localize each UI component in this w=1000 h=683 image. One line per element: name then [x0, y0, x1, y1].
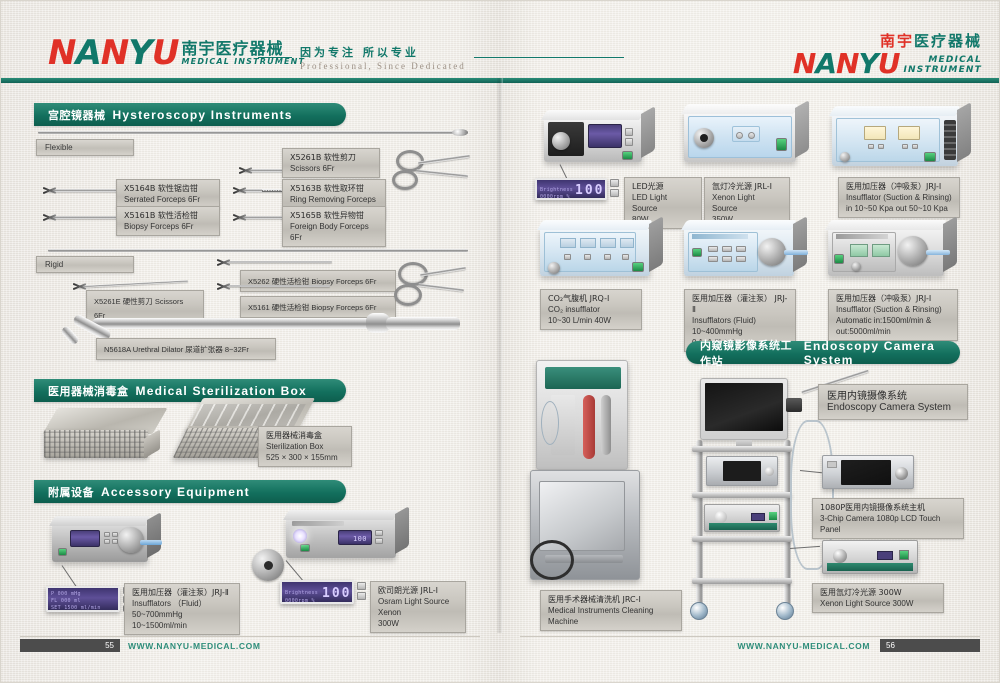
device-xenon-300w-strip — [827, 563, 913, 571]
cart-caster-left — [690, 602, 708, 620]
cleaning-machine-hose-grey — [601, 395, 611, 455]
slogan-dash-left — [258, 57, 292, 58]
section-en: Accessory Equipment — [101, 485, 250, 499]
caption-en: Insufflator (Suction & Rinsing) — [846, 192, 952, 203]
cleaning-machine-coil — [541, 401, 559, 445]
scissor-shank-lower — [416, 169, 468, 177]
device-xenon-300w-display — [877, 551, 893, 560]
device-light-aperture — [700, 134, 708, 142]
section-cn: 内窥镜影像系统工作站 — [700, 337, 797, 369]
cart-monitor-screen — [705, 383, 783, 431]
caption-en: Insufflator (Suction & Rinsing) — [836, 304, 950, 315]
scissor-ring-handle-lower — [392, 170, 418, 190]
brand-sub-line1: MEDICAL — [903, 55, 982, 65]
cart-xenon-display — [751, 513, 765, 521]
device-button — [622, 254, 629, 260]
slogan-block: 因为专注 所以专业 Professional, Since Dedicated — [258, 44, 624, 71]
caption-cn: 氙灯冷光源 JRL-Ⅰ — [712, 181, 782, 192]
caption-spec: 50~700mmHg 10~1500ml/min — [132, 609, 232, 631]
caption-size: 525 × 300 × 155mm — [266, 452, 344, 463]
device-display-2 — [872, 244, 890, 257]
group-label-flexible: Flexible — [36, 139, 134, 156]
caption-spec: 300W — [378, 618, 458, 629]
device-camera-host-badge — [827, 461, 837, 468]
urethral-dilator-tip — [60, 325, 80, 346]
caption-en: Scissors 6Fr — [290, 163, 372, 174]
caption-cn: 欧司朗光源 JRL-Ⅰ — [378, 585, 458, 596]
forceps-ring-handle-lower — [394, 284, 422, 306]
caption-en: Osram Light Source Xenon — [378, 596, 458, 618]
page-number-right: 56 — [880, 639, 980, 652]
caption-en: Biopsy Forceps 6Fr — [124, 221, 212, 232]
device-button-down — [375, 538, 383, 544]
slogan-dash-right — [474, 57, 624, 58]
cart-shelf-2 — [692, 492, 792, 498]
caption-xenon-300w: 医用氙灯冷光源 300W Xenon Light Source 300W — [812, 583, 944, 613]
caption-endoscopy-camera-system: 医用内镜摄像系统 Endoscopy Camera System — [818, 384, 968, 420]
device-power-button — [622, 151, 633, 160]
cleaning-machine-upper — [536, 360, 628, 470]
logo-right: 南宇医疗器械 NANYU MEDICAL INSTRUMENT — [793, 33, 982, 76]
device-lcd — [70, 530, 100, 547]
zoom-button-up — [357, 582, 366, 590]
caption-spec: 10~30 L/min 40W — [548, 315, 634, 326]
device-osram-light-source: 100 — [286, 518, 396, 558]
flexible-sheath — [38, 131, 458, 134]
caption-en: Endoscopy Camera System — [827, 402, 959, 413]
caption-cn: X5261B 软性剪刀 — [290, 152, 372, 163]
device-button-b — [748, 132, 755, 139]
caption-text: X5261E 硬性剪刀 Scissors 6Fr — [94, 297, 183, 320]
device-button — [104, 539, 110, 544]
caption-foreign-body-forceps: X5165B 软性异物钳 Foreign Body Forceps 6Fr — [282, 206, 386, 247]
footer-url-left: WWW.NANYU-MEDICAL.COM — [128, 641, 261, 651]
section-cn: 医用器械消毒盒 — [48, 383, 129, 399]
page-number-left: 55 — [20, 639, 120, 652]
device-brand-strip — [692, 234, 748, 239]
cart-shelf-4 — [692, 578, 792, 584]
device-button — [736, 256, 746, 262]
device-port — [852, 262, 861, 271]
caption-cn: LED光源 — [632, 181, 694, 192]
endoscope-camera-head — [786, 398, 802, 412]
sterilization-box-closed — [44, 408, 166, 466]
forceps-shank-lower — [418, 283, 464, 292]
device-power-button — [692, 248, 702, 257]
caption-cn: 医用加压器（灌注泵） JRJ-Ⅱ — [692, 293, 788, 315]
lcd-zoom-label: Brightness — [540, 187, 573, 193]
caption-cn: X5164B 软性锯齿钳 — [124, 183, 212, 194]
device-co2-insufflator — [540, 228, 650, 276]
device-button — [722, 256, 732, 262]
cart-xenon-strip — [709, 523, 777, 530]
lcd-zoom-led: Brightness 100 0000rpm % — [535, 178, 607, 200]
instrument-shaft-rigid-x5161 — [222, 285, 330, 287]
caption-cn: X5163B 软性取环钳 — [290, 183, 378, 194]
caption-en: Medical Instruments Cleaning Machine — [548, 605, 674, 627]
device-power-button — [924, 152, 936, 162]
section-en: Medical Sterilization Box — [136, 384, 307, 398]
device-display-2 — [898, 126, 920, 140]
cart-xenon-port — [715, 511, 727, 523]
group-label-rigid: Rigid — [36, 256, 134, 273]
device-vent — [944, 120, 956, 160]
caption-en: Serrated Forceps 6Fr — [124, 194, 212, 205]
leader-line — [62, 565, 77, 587]
caption-insufflator-suction-2: 医用加压器（冲吸泵）JRJ-Ⅰ Insufflator (Suction & R… — [828, 289, 958, 341]
lcd-zoom-insufflator: P 000 mHg FL 000 ml SET 1500 ml/min — [46, 586, 120, 612]
device-xenon-300w-port — [833, 549, 847, 563]
catalog-page: NANYU 南宇医疗器械 MEDICAL INSTRUMENT 因为专注 所以专… — [0, 0, 1000, 683]
cart-shelf-3 — [692, 536, 792, 542]
forceps-shank-upper — [420, 266, 466, 276]
footer-rule-right — [520, 636, 980, 637]
cart-camera-host — [706, 456, 778, 486]
device-display-1 — [864, 126, 886, 140]
brand-sub-line2: INSTRUMENT — [903, 65, 982, 75]
device-port — [840, 152, 850, 162]
device-button — [868, 144, 874, 149]
device-lcd: 100 — [338, 530, 372, 545]
caption-en: Xenon Light Source — [712, 192, 782, 214]
device-xenon-300w-power-button — [899, 550, 909, 560]
device-button — [564, 254, 571, 260]
caption-scissors: X5261B 软性剪刀 Scissors 6Fr — [282, 148, 380, 178]
caption-osram-light-source: 欧司朗光源 JRL-Ⅰ Osram Light Source Xenon 300… — [370, 581, 466, 633]
device-button — [902, 144, 908, 149]
device-button — [584, 254, 591, 260]
page-gutter — [497, 78, 503, 633]
device-button-down — [625, 138, 633, 146]
zoom-button-down — [610, 189, 619, 197]
cart-camera-host-port — [765, 467, 774, 476]
device-button — [878, 144, 884, 149]
cart-camera-host-screen — [723, 461, 761, 481]
lcd-zoom-osram: Brightness 100 0000rpm % — [280, 580, 354, 604]
device-button — [604, 254, 611, 260]
device-button — [708, 246, 718, 252]
slogan-en: Professional, Since Dedicated — [300, 61, 466, 71]
caption-en: Sterilization Box — [266, 441, 344, 452]
device-power-button — [300, 544, 310, 552]
caption-cn: 医用内镜摄像系统 — [827, 391, 959, 402]
device-power-button — [834, 254, 844, 264]
caption-cn: 医用加压器（冲吸泵）JRJ-Ⅰ — [836, 293, 950, 304]
device-brand-strip — [836, 234, 888, 239]
caption-rigid-x5262: X5262 硬性活检钳 Biopsy Forceps 6Fr — [240, 270, 396, 292]
device-pump-rotor — [758, 238, 786, 266]
device-display-3 — [600, 238, 616, 248]
caption-cn: X5161B 软性活检钳 — [124, 210, 212, 221]
section-cn: 附属设备 — [48, 484, 94, 500]
device-pump-rotor — [898, 236, 928, 266]
nanyu-wordmark: NANYU — [48, 38, 179, 68]
caption-biopsy-forceps-flex: X5161B 软性活检钳 Biopsy Forceps 6Fr — [116, 206, 220, 236]
caption-en: Insufflators （Fluid） — [132, 598, 232, 609]
footer-rule-left — [20, 636, 480, 637]
urethral-dilator-handle — [386, 317, 460, 330]
device-display-1 — [850, 244, 868, 257]
caption-en: Foreign Body Forceps 6Fr — [290, 221, 378, 243]
device-display-2 — [580, 238, 596, 248]
device-power-button — [58, 548, 67, 556]
device-insufflator-suction-2 — [828, 228, 944, 276]
caption-cn: 医用手术器械清洗机 JRC-Ⅰ — [548, 594, 674, 605]
device-button — [104, 532, 110, 537]
device-insufflator-suction-1 — [832, 114, 958, 166]
device-display-1 — [560, 238, 576, 248]
device-knob — [552, 132, 570, 150]
section-banner-hysteroscopy: 宫腔镜器械 Hysteroscopy Instruments — [34, 103, 346, 126]
rigid-sheath — [48, 249, 468, 252]
device-tube-port — [926, 250, 950, 255]
caption-en: CO₂ insufflator — [548, 304, 634, 315]
light-cable-core — [264, 561, 273, 570]
caption-cn: 医用器械消毒盒 — [266, 430, 344, 441]
zoom-button-up — [610, 179, 619, 187]
section-cn: 宫腔镜器械 — [48, 107, 106, 123]
cleaning-machine-power-cable — [530, 540, 574, 580]
device-camera-host-port — [895, 467, 908, 480]
device-lcd — [588, 124, 622, 148]
device-brand-strip — [292, 521, 344, 526]
caption-serrated-forceps: X5164B 软性锯齿钳 Serrated Forceps 6Fr — [116, 179, 220, 209]
section-en: Hysteroscopy Instruments — [113, 108, 293, 122]
slogan-cn: 因为专注 所以专业 — [300, 44, 466, 60]
caption-spec: Automatic in:1500ml/min & out:5000ml/min — [836, 315, 950, 337]
device-button — [722, 246, 732, 252]
caption-text: X5161 硬性活检钳 Biopsy Forceps 6Fr — [248, 303, 376, 312]
lcd-zoom-value: 100 — [575, 183, 604, 198]
cart-xenon-source — [704, 504, 780, 532]
cart-monitor — [700, 378, 788, 440]
device-tube-port — [140, 540, 162, 545]
caption-insufflator-suction-1: 医用加压器（冲吸泵）JRJ-Ⅰ Insufflator (Suction & R… — [838, 177, 960, 218]
cart-caster-right — [776, 602, 794, 620]
device-display-4 — [620, 238, 634, 248]
caption-urethral-dilator: N5618A Urethral Dilator 尿道扩张器 8~32Fr — [96, 338, 276, 360]
caption-camera-host: 1080P医用内镜摄像系统主机 3-Chip Camera 1080p LCD … — [812, 498, 964, 539]
device-tube-port — [784, 250, 808, 255]
cleaning-machine-hose-red — [583, 395, 595, 459]
caption-sterilization-box: 医用器械消毒盒 Sterilization Box 525 × 300 × 15… — [258, 426, 352, 467]
zoom-button-down — [357, 592, 366, 600]
device-power-button — [632, 262, 644, 272]
caption-en: LED Light Source — [632, 192, 694, 214]
section-en: Endoscopy Camera System — [804, 339, 960, 367]
instrument-shaft-rigid-scissors — [78, 280, 188, 288]
caption-cn: 医用加压器（冲吸泵）JRJ-Ⅰ — [846, 181, 952, 192]
device-xenon-300w — [822, 540, 918, 574]
device-button-up — [625, 128, 633, 136]
device-button — [912, 144, 918, 149]
device-light-port — [293, 529, 307, 543]
caption-insufflator-fluid: 医用加压器（灌注泵）JRJ-Ⅱ Insufflators （Fluid） 50~… — [124, 583, 240, 635]
device-button — [736, 246, 746, 252]
lcd-zoom-value: 100 — [322, 586, 351, 601]
caption-co2-insufflator: CO₂气腹机 JRQ-Ⅰ CO₂ insufflator 10~30 L/min… — [540, 289, 642, 330]
device-button — [112, 532, 118, 537]
device-insufflator-fluid — [52, 524, 148, 562]
device-gas-port — [548, 262, 560, 274]
urethral-dilator-body — [92, 318, 372, 329]
caption-text: N5618A Urethral Dilator 尿道扩张器 8~32Fr — [104, 345, 249, 354]
device-xenon-light-source — [684, 112, 796, 162]
caption-cleaning-machine: 医用手术器械清洗机 JRC-Ⅰ Medical Instruments Clea… — [540, 590, 682, 631]
footer-url-right: WWW.NANYU-MEDICAL.COM — [737, 641, 870, 651]
device-insufflator-fluid-2 — [684, 228, 794, 276]
caption-en: Insufflators (Fluid) — [692, 315, 788, 326]
device-led-light-source — [544, 118, 642, 162]
cart-shelf-1 — [692, 446, 792, 452]
device-button-up — [375, 530, 383, 536]
caption-en: Xenon Light Source 300W — [820, 598, 936, 609]
cart-xenon-power-button — [769, 512, 777, 520]
section-banner-camera-system: 内窥镜影像系统工作站 Endoscopy Camera System — [686, 341, 960, 364]
scissor-shank-upper — [418, 154, 470, 164]
lcd-zoom-label: Brightness — [285, 590, 318, 596]
flexible-sheath-tip — [452, 129, 468, 136]
caption-spec: in 10~50 Kpa out 50~10 Kpa — [846, 203, 952, 214]
caption-cn: CO₂气腹机 JRQ-Ⅰ — [548, 293, 634, 304]
cleaning-machine-panel — [545, 367, 621, 389]
caption-en: 3-Chip Camera 1080p LCD Touch Panel — [820, 513, 956, 535]
device-camera-host-screen — [841, 460, 891, 485]
leader-line — [286, 560, 305, 582]
device-button — [708, 256, 718, 262]
instrument-shaft-rigid-x5262 — [222, 261, 332, 263]
caption-cn: X5165B 软性异物钳 — [290, 210, 378, 221]
caption-cn: 医用氙灯冷光源 300W — [820, 587, 936, 598]
caption-cn: 医用加压器（灌注泵）JRJ-Ⅱ — [132, 587, 232, 598]
caption-cn: 1080P医用内镜摄像系统主机 — [820, 502, 956, 513]
device-button-a — [736, 132, 743, 139]
section-banner-accessory: 附属设备 Accessory Equipment — [34, 480, 346, 503]
device-camera-host — [822, 455, 914, 489]
device-power-button — [776, 138, 787, 151]
